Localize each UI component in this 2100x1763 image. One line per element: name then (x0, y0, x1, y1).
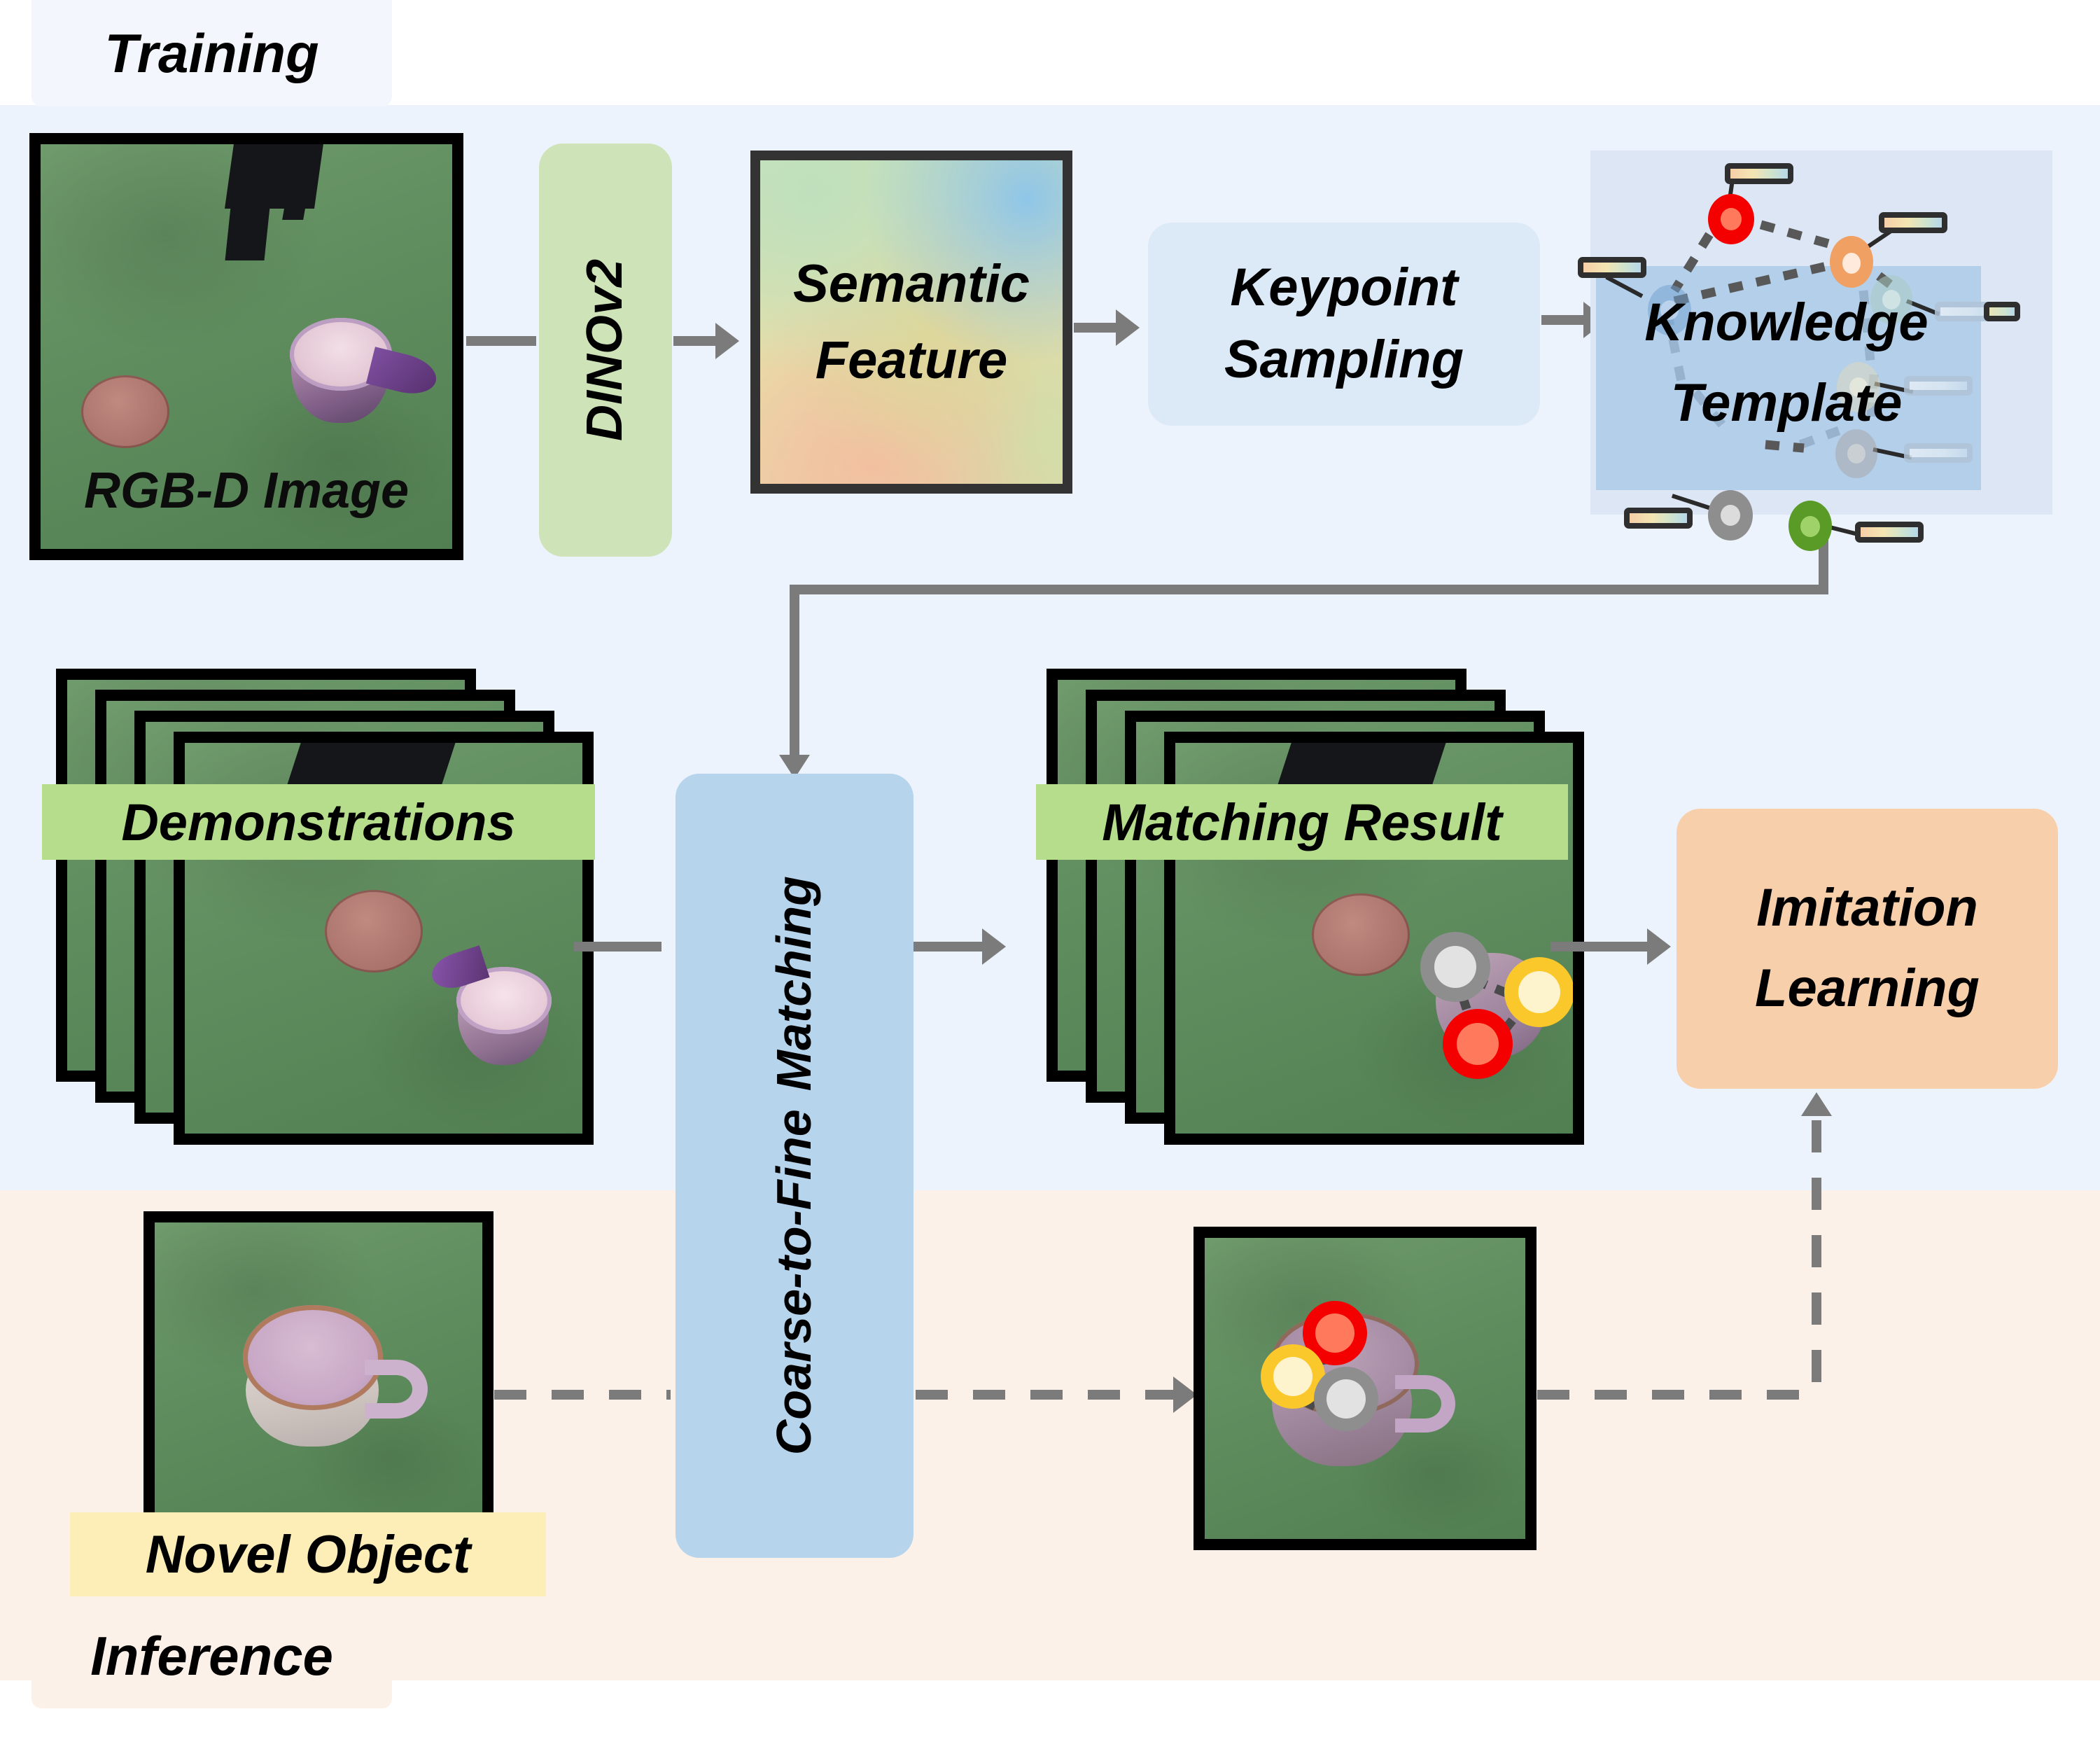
arrow-matching-to-result-head (982, 928, 1006, 965)
knowledge-template-caption: Knowledge Template (1590, 291, 1982, 435)
robot-gripper-finger-left (225, 200, 270, 260)
keypoint-sampling-line-1: Keypoint (1224, 256, 1464, 321)
connector-template-left (790, 585, 1828, 594)
semantic-feature-map: Semantic Feature (750, 151, 1072, 494)
keypoint-red-core (1721, 208, 1742, 230)
arrow-demos-to-matching-line (574, 942, 661, 952)
semantic-feature-line-2: Feature (760, 328, 1063, 392)
imitation-learning-line-1: Imitation (1755, 876, 1980, 941)
demonstrations-label: Demonstrations (121, 793, 515, 852)
coaster (1312, 893, 1410, 976)
coaster (81, 375, 169, 448)
mug-handle (365, 1360, 428, 1419)
keypoint-sampling-label: Keypoint Sampling (1224, 256, 1464, 392)
feature-chip-gray2 (1904, 443, 1973, 463)
dashed-imitation-arrowhead (1801, 1092, 1832, 1116)
feature-chip-gray (1624, 508, 1693, 529)
match-keypoint-gray-core (1434, 946, 1476, 988)
feature-chip-blue (1578, 257, 1646, 278)
novel-object-banner: Novel Object (70, 1512, 546, 1596)
demonstrations-stack (56, 669, 588, 1145)
coarse-to-fine-line-2: Matching (764, 876, 824, 1091)
feature-chip-red (1725, 163, 1793, 184)
inference-result-photo (1193, 1227, 1536, 1550)
match-keypoint-yellow-core (1518, 971, 1560, 1013)
feature-chip-orange (1879, 212, 1947, 233)
arrow-semantic-to-keypoint-line (1074, 323, 1117, 333)
imitation-learning-line-2: Learning (1755, 956, 1980, 1022)
diagram-canvas: Training Inference RGB-D Image DINOv2 Se… (0, 0, 2100, 1763)
matching-result-stack (1046, 669, 1578, 1145)
keypoint-green-core (1800, 516, 1820, 537)
knowledge-template-panel: Knowledge Template (1590, 151, 2052, 515)
coaster (325, 890, 423, 973)
dashed-inference-result-to-imitation-v (1812, 1120, 1821, 1395)
coarse-to-fine-label: Coarse-to-Fine Matching (764, 876, 824, 1455)
keypoint-gray-core (1721, 505, 1740, 526)
dinov2-label: DINOv2 (575, 259, 636, 441)
rgbd-image-caption: RGB-D Image (41, 462, 452, 520)
training-band-label: Training (31, 0, 392, 106)
matching-result-banner: Matching Result (1036, 784, 1568, 860)
novel-object-label: Novel Object (146, 1524, 471, 1585)
coarse-to-fine-matching-box[interactable]: Coarse-to-Fine Matching (675, 774, 913, 1558)
rgbd-image-photo: RGB-D Image (29, 133, 463, 560)
novel-object-photo (143, 1211, 493, 1535)
match-keypoint-red-core (1315, 1313, 1354, 1353)
match-keypoint-gray-core (1326, 1379, 1366, 1419)
imitation-learning-box[interactable]: Imitation Learning (1676, 809, 2058, 1089)
arrow-dinov2-to-semantic-feature-line (673, 336, 717, 346)
keypoint-gray2-core (1847, 444, 1865, 464)
keypoint-sampling-box[interactable]: Keypoint Sampling (1148, 223, 1540, 426)
imitation-learning-label: Imitation Learning (1755, 876, 1980, 1021)
mug-handle (1395, 1375, 1455, 1433)
matching-result-label: Matching Result (1102, 793, 1501, 852)
dashed-novel-object-to-matching (494, 1390, 671, 1400)
semantic-feature-line-1: Semantic (760, 252, 1063, 316)
arrow-semantic-to-keypoint-head (1116, 309, 1140, 346)
mug-rim (243, 1305, 383, 1410)
arrow-dinov2-to-semantic-feature-head (715, 323, 739, 359)
arrow-result-to-imitation-line (1550, 942, 1648, 952)
feature-chip-teal-outer (1984, 302, 2020, 321)
match-keypoint-red-core (1457, 1023, 1499, 1065)
connector-template-down-2 (790, 585, 799, 760)
demonstrations-banner: Demonstrations (42, 784, 595, 860)
match-keypoint-yellow-core (1273, 1357, 1312, 1396)
semantic-feature-caption: Semantic Feature (760, 252, 1063, 392)
knowledge-template-line-2: Template (1590, 371, 1982, 436)
dashed-inference-result-to-imitation-h (1537, 1390, 1817, 1400)
arrow-rgbd-to-dinov2 (466, 336, 536, 346)
dashed-matching-to-inference-result (916, 1390, 1175, 1400)
inference-band-label: Inference (31, 1603, 392, 1708)
dinov2-box[interactable]: DINOv2 (539, 144, 672, 557)
coarse-to-fine-line-1: Coarse-to-Fine (764, 1110, 824, 1456)
knowledge-template-line-1: Knowledge (1590, 291, 1982, 356)
arrow-result-to-imitation-head (1647, 928, 1671, 965)
keypoint-sampling-line-2: Sampling (1224, 328, 1464, 393)
keypoint-orange-core (1842, 253, 1861, 274)
feature-chip-green (1855, 522, 1924, 543)
arrow-matching-to-result-line (913, 942, 983, 952)
arrow-keypoint-to-template-line (1541, 315, 1585, 325)
